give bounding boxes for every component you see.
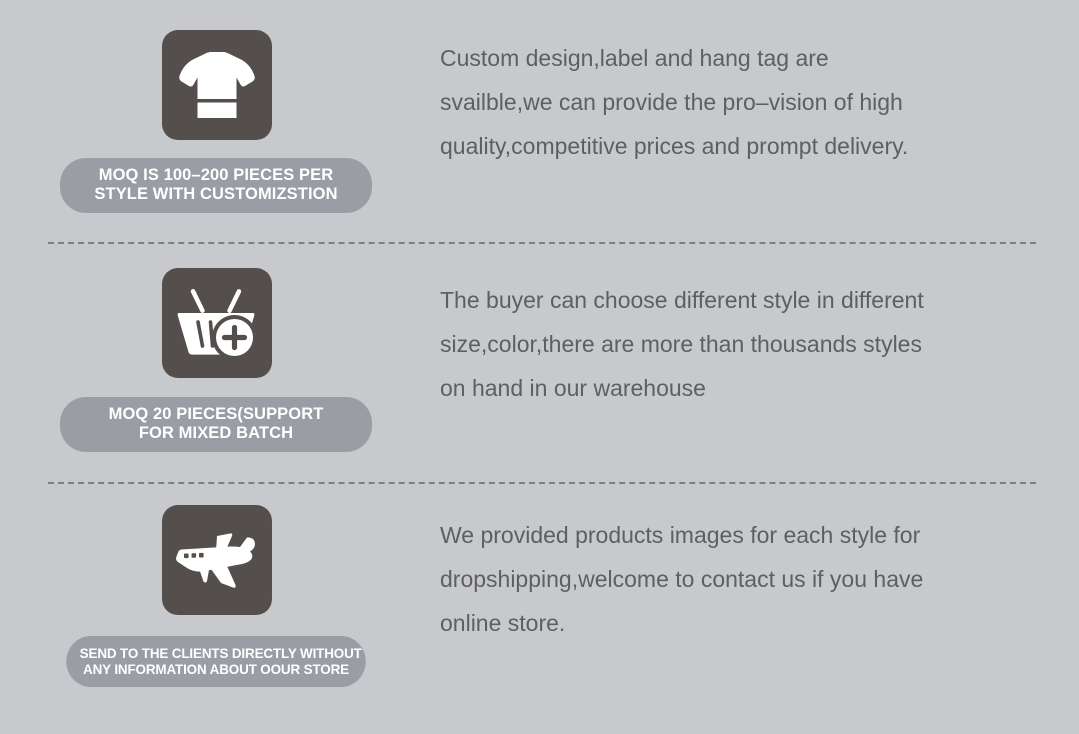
badge-line: ANY INFORMATION ABOUT OOUR STORE [80, 661, 353, 677]
description-line: online store. [440, 601, 1015, 645]
section-divider [48, 242, 1036, 244]
feature-icon-and-badge: MOQ IS 100–200 PIECES PER STYLE WITH CUS… [0, 30, 440, 213]
badge-line: SEND TO THE CLIENTS DIRECTLY WITHOUT [80, 645, 353, 661]
features-panel: MOQ IS 100–200 PIECES PER STYLE WITH CUS… [0, 0, 1079, 734]
description-line: The buyer can choose different style in … [440, 278, 1015, 322]
description-line: quality,competitive prices and prompt de… [440, 124, 1015, 168]
feature-row-dropshipping: SEND TO THE CLIENTS DIRECTLY WITHOUT ANY… [0, 505, 1079, 705]
feature-icon-and-badge: MOQ 20 PIECES(SUPPORT FOR MIXED BATCH [0, 268, 440, 452]
badge-line: MOQ IS 100–200 PIECES PER [82, 166, 350, 185]
badge-discreet-shipping: SEND TO THE CLIENTS DIRECTLY WITHOUT ANY… [66, 636, 366, 687]
feature-description-mixed-batch: The buyer can choose different style in … [440, 268, 1015, 410]
badge-moq-customization: MOQ IS 100–200 PIECES PER STYLE WITH CUS… [60, 158, 372, 213]
feature-row-customization: MOQ IS 100–200 PIECES PER STYLE WITH CUS… [0, 30, 1079, 235]
description-line: Custom design,label and hang tag are [440, 36, 1015, 80]
badge-line: STYLE WITH CUSTOMIZSTION [82, 185, 350, 204]
airplane-icon [162, 505, 272, 615]
badge-line: FOR MIXED BATCH [82, 424, 350, 443]
description-line: dropshipping,welcome to contact us if yo… [440, 557, 1015, 601]
feature-description-dropshipping: We provided products images for each sty… [440, 505, 1015, 645]
shopping-basket-add-icon [162, 268, 272, 378]
description-line: svailble,we can provide the pro–vision o… [440, 80, 1015, 124]
badge-moq-mixed-batch: MOQ 20 PIECES(SUPPORT FOR MIXED BATCH [60, 397, 372, 452]
badge-line: MOQ 20 PIECES(SUPPORT [82, 405, 350, 424]
feature-row-mixed-batch: MOQ 20 PIECES(SUPPORT FOR MIXED BATCH Th… [0, 268, 1079, 476]
section-divider [48, 482, 1036, 484]
feature-icon-and-badge: SEND TO THE CLIENTS DIRECTLY WITHOUT ANY… [0, 505, 440, 687]
description-line: on hand in our warehouse [440, 366, 1015, 410]
feature-description-customization: Custom design,label and hang tag are sva… [440, 30, 1015, 168]
description-line: size,color,there are more than thousands… [440, 322, 1015, 366]
description-line: We provided products images for each sty… [440, 513, 1015, 557]
tshirt-icon [162, 30, 272, 140]
